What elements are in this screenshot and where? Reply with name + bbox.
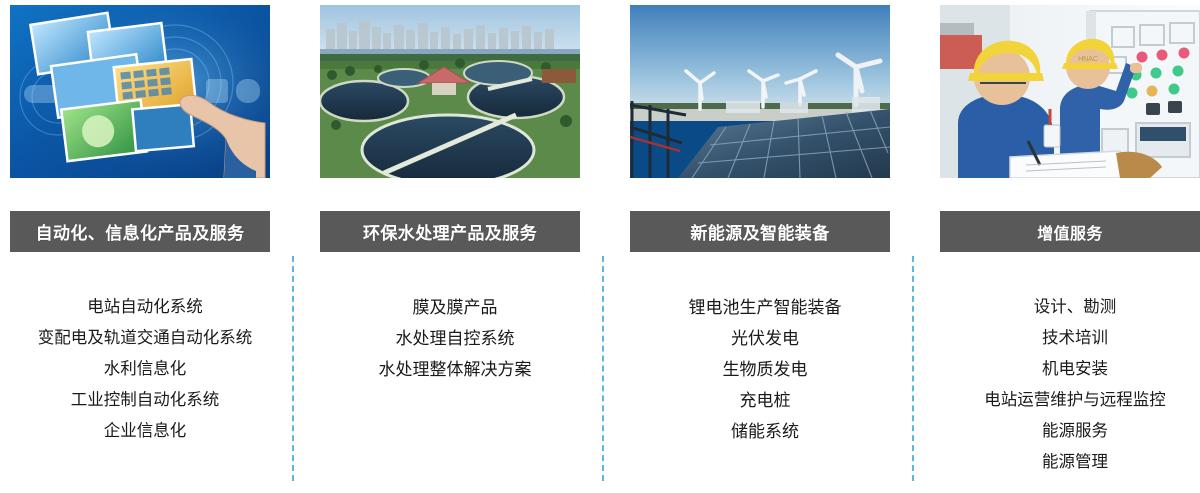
segment-item-list-water-treatment: 膜及膜产品 水处理自控系统 水处理整体解决方案 xyxy=(310,292,600,385)
list-item[interactable]: 技术培训 xyxy=(930,323,1200,354)
segment-header-label: 增值服务 xyxy=(1037,220,1103,244)
segment-column-value-added-services: HNAC 增值服务 xyxy=(930,0,1200,493)
segment-column-automation-it: 自动化、信息化产品及服务 电站自动化系统 变配电及轨道交通自动化系统 水利信息化… xyxy=(0,0,290,493)
segment-header-label: 环保水处理产品及服务 xyxy=(363,219,537,244)
segment-header-label: 新能源及智能装备 xyxy=(690,219,829,244)
list-item[interactable]: 企业信息化 xyxy=(0,416,290,447)
list-item[interactable]: 电站运营维护与远程监控 xyxy=(930,385,1200,416)
business-segments-overview: 自动化、信息化产品及服务 电站自动化系统 变配电及轨道交通自动化系统 水利信息化… xyxy=(0,0,1200,493)
segment-image-new-energy xyxy=(630,5,890,178)
segment-column-water-treatment: 环保水处理产品及服务 膜及膜产品 水处理自控系统 水处理整体解决方案 xyxy=(310,0,600,493)
segment-header-water-treatment: 环保水处理产品及服务 xyxy=(320,211,580,252)
segment-header-automation-it: 自动化、信息化产品及服务 xyxy=(10,211,270,252)
segment-header-new-energy: 新能源及智能装备 xyxy=(630,211,890,252)
list-item[interactable]: 水处理自控系统 xyxy=(310,323,600,354)
list-item[interactable]: 变配电及轨道交通自动化系统 xyxy=(0,323,290,354)
segment-image-automation-it xyxy=(10,5,270,178)
list-item[interactable]: 工业控制自动化系统 xyxy=(0,385,290,416)
segment-item-list-value-added-services: 设计、勘测 技术培训 机电安装 电站运营维护与远程监控 能源服务 能源管理 xyxy=(930,292,1200,478)
list-item[interactable]: 光伏发电 xyxy=(620,323,910,354)
list-item[interactable]: 电站自动化系统 xyxy=(0,292,290,323)
list-item[interactable]: 充电桩 xyxy=(620,385,910,416)
list-item[interactable]: 水处理整体解决方案 xyxy=(310,354,600,385)
segment-item-list-automation-it: 电站自动化系统 变配电及轨道交通自动化系统 水利信息化 工业控制自动化系统 企业… xyxy=(0,292,290,447)
column-divider xyxy=(292,256,294,481)
list-item[interactable]: 机电安装 xyxy=(930,354,1200,385)
segment-column-new-energy: 新能源及智能装备 锂电池生产智能装备 光伏发电 生物质发电 充电桩 储能系统 xyxy=(620,0,910,493)
list-item[interactable]: 储能系统 xyxy=(620,416,910,447)
column-divider xyxy=(912,256,914,481)
segment-header-label: 自动化、信息化产品及服务 xyxy=(36,219,245,244)
list-item[interactable]: 生物质发电 xyxy=(620,354,910,385)
column-divider xyxy=(602,256,604,481)
list-item[interactable]: 能源管理 xyxy=(930,447,1200,478)
svg-text:HNAC: HNAC xyxy=(1078,56,1098,63)
list-item[interactable]: 膜及膜产品 xyxy=(310,292,600,323)
list-item[interactable]: 水利信息化 xyxy=(0,354,290,385)
segment-image-value-added-services: HNAC xyxy=(940,5,1200,178)
list-item[interactable]: 能源服务 xyxy=(930,416,1200,447)
segment-item-list-new-energy: 锂电池生产智能装备 光伏发电 生物质发电 充电桩 储能系统 xyxy=(620,292,910,447)
list-item[interactable]: 设计、勘测 xyxy=(930,292,1200,323)
segment-header-value-added-services: 增值服务 xyxy=(940,211,1200,252)
segment-image-water-treatment xyxy=(320,5,580,178)
list-item[interactable]: 锂电池生产智能装备 xyxy=(620,292,910,323)
